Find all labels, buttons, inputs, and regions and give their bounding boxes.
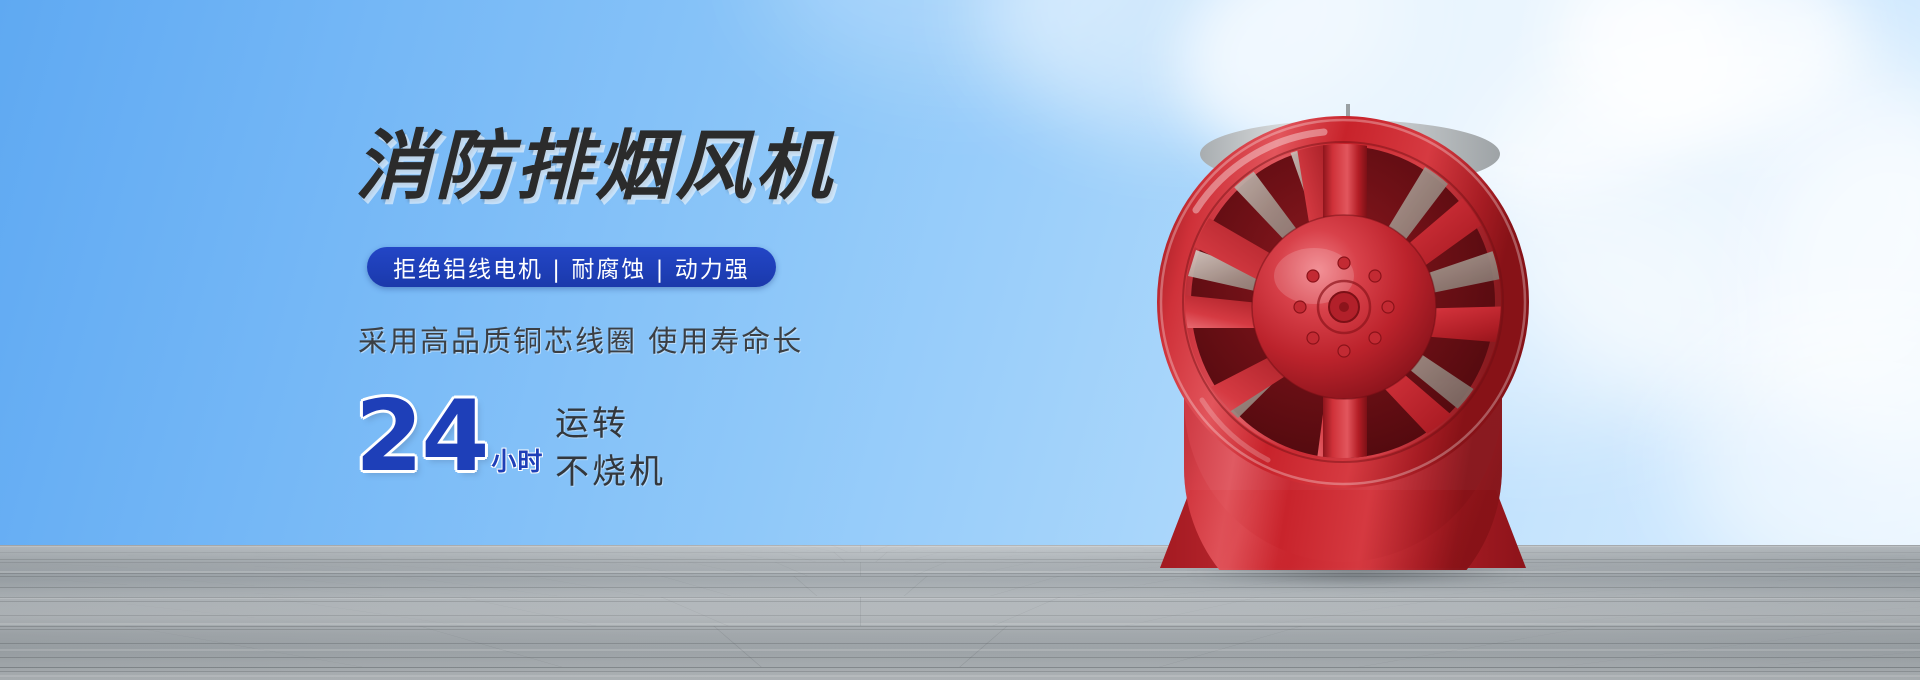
hours-unit: 小时 <box>491 442 543 478</box>
hours-highlight: 24 小时 <box>355 392 543 482</box>
cloud-wisp <box>1760 120 1920 460</box>
hours-number: 24 <box>355 392 487 482</box>
feature-badge-label: 拒绝铝线电机 | 耐腐蚀 | 动力强 <box>393 250 750 284</box>
product-hero-banner: 消防排烟风机 拒绝铝线电机 | 耐腐蚀 | 动力强 采用高品质铜芯线圈 使用寿命… <box>0 0 1920 680</box>
cloud-wisp <box>1560 0 1860 140</box>
axial-fan-product-image <box>1118 70 1568 570</box>
slogan-line-2: 不烧机 <box>555 448 666 496</box>
subtitle: 采用高品质铜芯线圈 使用寿命长 <box>358 318 803 360</box>
banner-copy-block: 消防排烟风机 拒绝铝线电机 | 耐腐蚀 | 动力强 采用高品质铜芯线圈 使用寿命… <box>0 0 900 680</box>
slogan-block: 运转 不烧机 <box>555 400 666 497</box>
fan-hub <box>1252 215 1436 399</box>
page-title: 消防排烟风机 <box>355 128 835 204</box>
feature-badge: 拒绝铝线电机 | 耐腐蚀 | 动力强 <box>367 247 776 287</box>
slogan-line-1: 运转 <box>555 400 666 448</box>
